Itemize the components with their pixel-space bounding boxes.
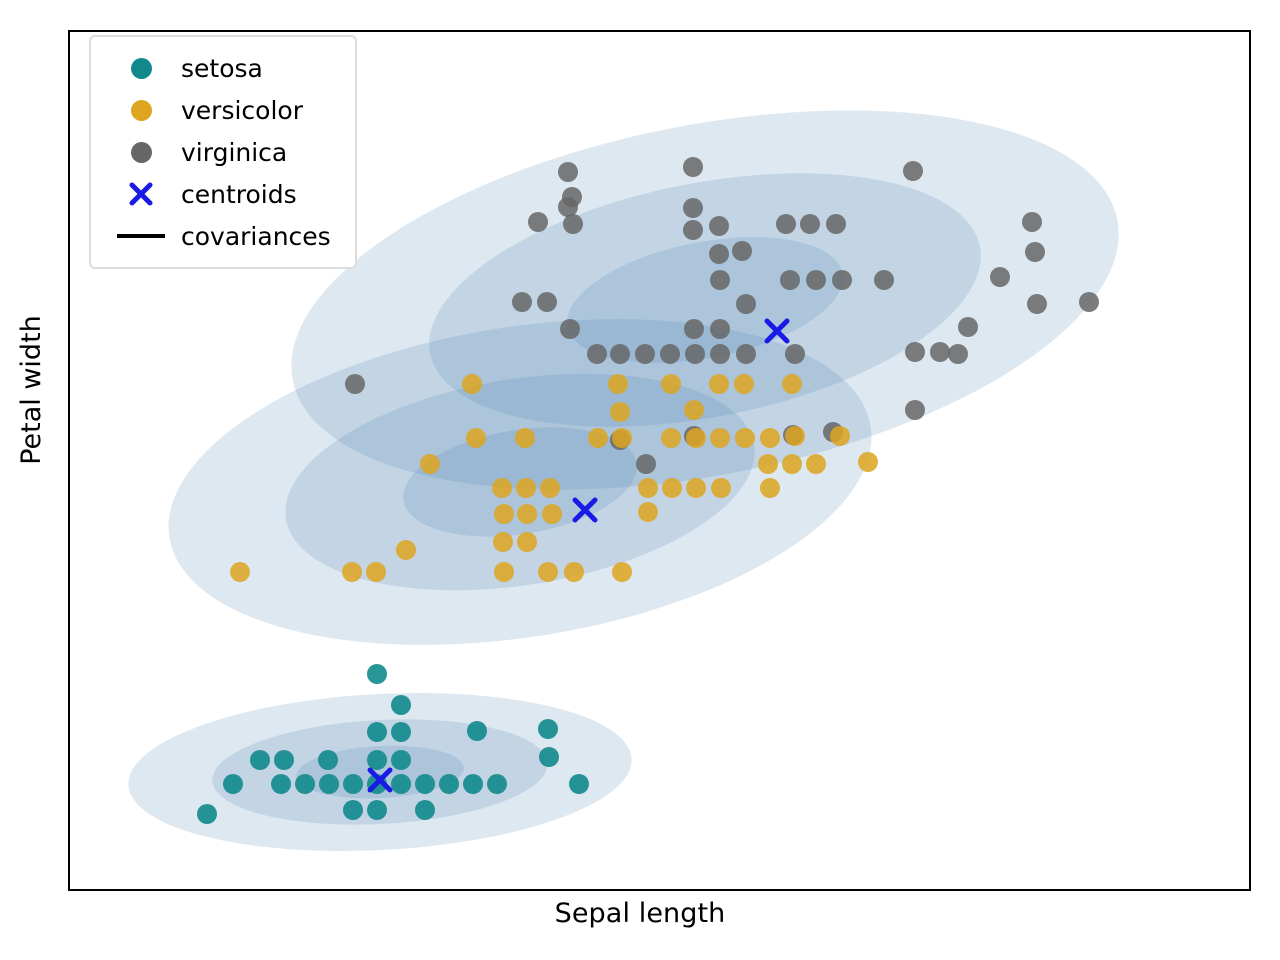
legend-label-setosa: setosa bbox=[181, 54, 263, 83]
plot-area: setosa versicolor virginica bbox=[68, 30, 1251, 891]
y-axis-label: Petal width bbox=[16, 315, 47, 465]
legend-marker-line-icon bbox=[101, 234, 181, 238]
legend-item-virginica[interactable]: virginica bbox=[101, 131, 343, 173]
legend-marker-circle-icon bbox=[101, 142, 181, 163]
x-axis-label: Sepal length bbox=[0, 898, 1280, 929]
legend-item-centroids[interactable]: centroids bbox=[101, 173, 343, 215]
legend-marker-x-icon bbox=[101, 179, 181, 209]
legend-marker-circle-icon bbox=[101, 100, 181, 121]
legend-item-setosa[interactable]: setosa bbox=[101, 47, 343, 89]
legend-item-covariances[interactable]: covariances bbox=[101, 215, 343, 257]
figure-canvas: setosa versicolor virginica bbox=[0, 0, 1280, 960]
legend-label-covariances: covariances bbox=[181, 222, 331, 251]
legend-box: setosa versicolor virginica bbox=[89, 35, 357, 269]
legend-label-versicolor: versicolor bbox=[181, 96, 303, 125]
legend-marker-circle-icon bbox=[101, 58, 181, 79]
legend-item-versicolor[interactable]: versicolor bbox=[101, 89, 343, 131]
legend-label-centroids: centroids bbox=[181, 180, 297, 209]
covariance-ellipses-setosa bbox=[124, 681, 635, 863]
legend-label-virginica: virginica bbox=[181, 138, 287, 167]
y-axis-label-wrapper: Petal width bbox=[12, 190, 52, 590]
